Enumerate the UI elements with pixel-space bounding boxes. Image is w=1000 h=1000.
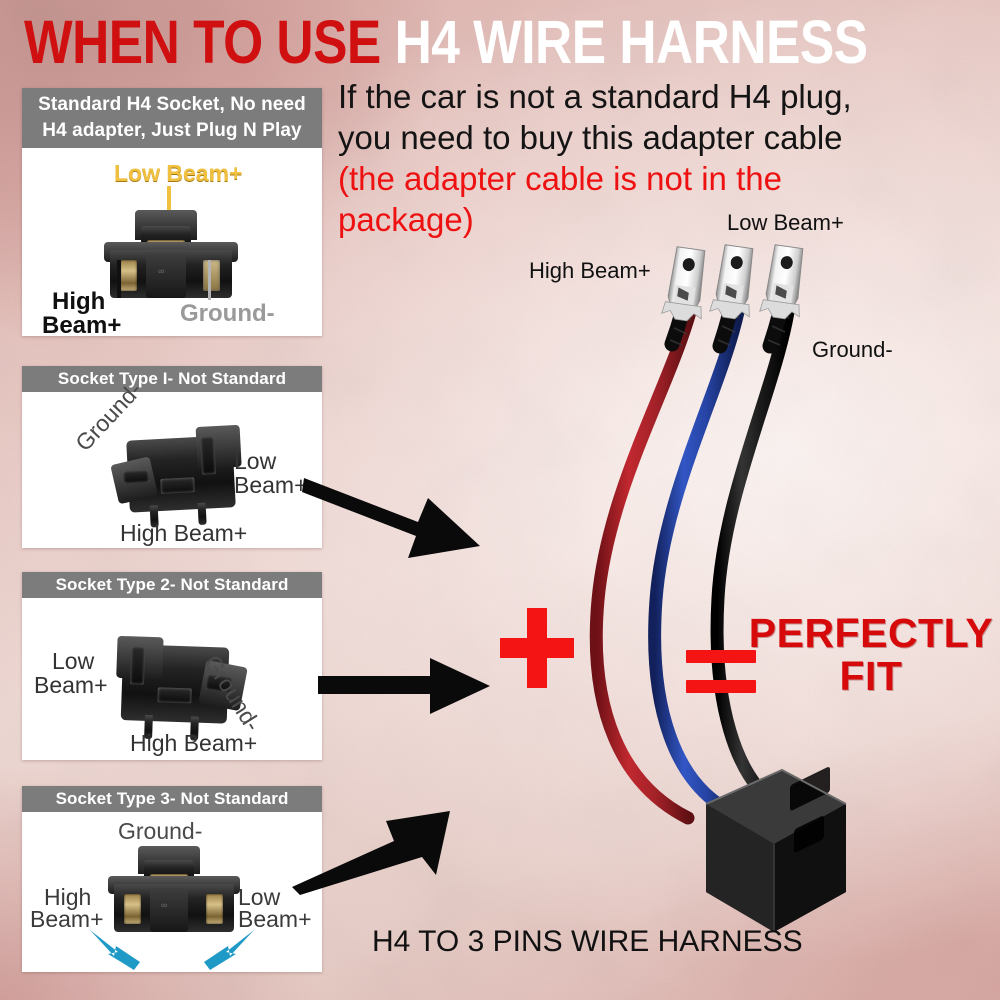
title-red-part: WHEN TO USE [24, 8, 395, 76]
panel-1-pointer-high-beam [117, 260, 121, 298]
intro-line-2: you need to buy this adapter cable [338, 119, 843, 156]
panel-4-header-text: Socket Type 3- Not Standard [56, 789, 289, 808]
panel-1-header-line-1: Standard H4 Socket, No need [22, 92, 322, 118]
panel-1-connector-marking: ∞ [158, 266, 164, 276]
intro-line-4: package) [338, 199, 998, 240]
perfectly-fit-line-2: FIT [742, 655, 1000, 698]
spade-terminal-high-beam [661, 246, 711, 323]
perfectly-fit-line-1: PERFECTLY [742, 612, 1000, 655]
arrow-from-type1-icon [300, 470, 530, 580]
panel-1-header-line-2: H4 adapter, Just Plug N Play [22, 118, 322, 144]
spade-terminal-low-beam [709, 244, 759, 321]
panel-1-label-ground: Ground- [180, 300, 275, 328]
h4-socket-illustration-standard: ∞ [102, 210, 242, 310]
panel-3-header: Socket Type 2- Not Standard [22, 572, 322, 598]
panel-2-header-text: Socket Type I- Not Standard [58, 369, 286, 388]
harness-label-ground: Ground- [812, 337, 893, 363]
arrow-from-type3-icon [290, 795, 470, 895]
panel-2-label-high-beam: High Beam+ [120, 520, 247, 547]
panel-1-label-low-beam: Low Beam+ [114, 160, 242, 187]
panel-1-header: Standard H4 Socket, No need H4 adapter, … [22, 88, 322, 148]
harness-label-low-beam: Low Beam+ [727, 210, 844, 236]
panel-1-pointer-ground [208, 260, 211, 300]
panel-3-label-high-beam: High Beam+ [130, 730, 257, 757]
panel-socket-type-1[interactable]: Socket Type I- Not Standard Ground- Low … [22, 366, 322, 548]
title-white-part: H4 WIRE HARNESS [395, 8, 868, 76]
panel-socket-type-3[interactable]: Socket Type 3- Not Standard Ground- ∞ Hi… [22, 786, 322, 972]
panel-4-cyan-arrows [22, 812, 322, 972]
panel-1-body: Low Beam+ ∞ High Beam+ Ground- [22, 148, 322, 336]
panel-4-body: Ground- ∞ High Beam+ Low Beam+ [22, 812, 322, 972]
panel-2-label-low-beam-1: Low [234, 448, 276, 475]
panel-standard-h4-socket[interactable]: Standard H4 Socket, No need H4 adapter, … [22, 88, 322, 336]
intro-copy: If the car is not a standard H4 plug, yo… [338, 76, 998, 240]
intro-line-3: (the adapter cable is not in the [338, 158, 998, 199]
intro-line-1: If the car is not a standard H4 plug, [338, 78, 852, 115]
arrow-from-type2-icon [318, 650, 518, 720]
panel-2-label-low-beam-2: Beam+ [234, 472, 308, 499]
h4-wire-harness-product-illustration [560, 240, 1000, 940]
panel-3-label-low-beam-1: Low [52, 648, 94, 675]
panel-4-header: Socket Type 3- Not Standard [22, 786, 322, 812]
plus-sign-horizontal-bar [500, 638, 574, 658]
panel-1-label-high-beam-2: Beam+ [42, 312, 121, 336]
panel-3-label-low-beam-2: Beam+ [34, 672, 108, 699]
panel-3-body: Low Beam+ Ground- High Beam+ [22, 598, 322, 760]
h4-socket-illustration-type1 [111, 421, 246, 528]
plus-sign: + [500, 608, 574, 688]
perfectly-fit-callout: PERFECTLY FIT [742, 612, 1000, 698]
panel-2-body: Ground- Low Beam+ High Beam+ [22, 392, 322, 548]
panel-socket-type-2[interactable]: Socket Type 2- Not Standard Low Beam+ Gr… [22, 572, 322, 760]
harness-label-high-beam: High Beam+ [529, 258, 651, 284]
spade-terminal-ground [759, 244, 809, 321]
bottom-caption: H4 TO 3 PINS WIRE HARNESS [372, 925, 803, 959]
infographic-canvas: WHEN TO USE H4 WIRE HARNESS If the car i… [0, 0, 1000, 1000]
panel-2-header: Socket Type I- Not Standard [22, 366, 322, 392]
h4-connector-body [706, 766, 846, 932]
page-title: WHEN TO USE H4 WIRE HARNESS [24, 8, 1000, 79]
panel-3-header-text: Socket Type 2- Not Standard [56, 575, 289, 594]
